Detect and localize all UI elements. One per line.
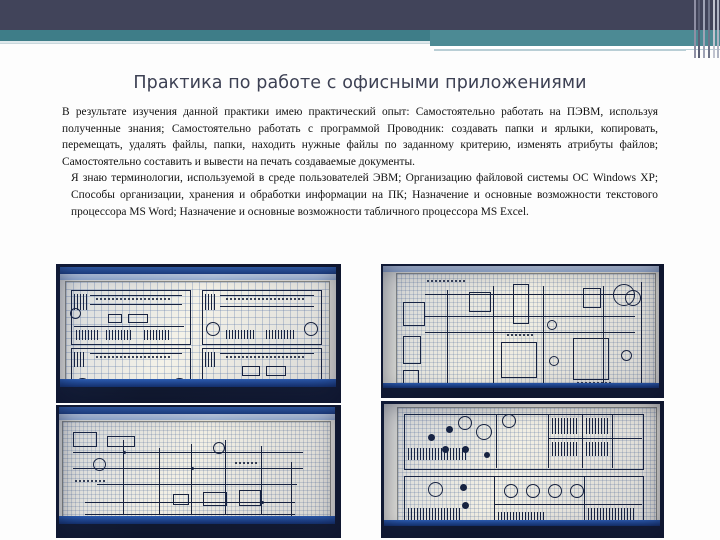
- schem-tr-block-6: [501, 342, 537, 378]
- dim-line-1: [90, 295, 182, 296]
- tr-branch-1: [447, 290, 448, 386]
- plan-ring-8: [570, 484, 584, 498]
- schem-tr-ring-4: [549, 356, 559, 366]
- stripe-4: [708, 0, 710, 58]
- junction-2: [191, 467, 194, 470]
- plan-node-1: [428, 434, 435, 441]
- component-box-2: [203, 492, 227, 506]
- branch-3: [191, 444, 192, 514]
- floorplan-sheet-br: [398, 408, 656, 522]
- plan-wall-4: [612, 414, 613, 468]
- plan-hatch-1: [408, 448, 468, 460]
- ring-3: [304, 322, 318, 336]
- plan-hatch-5: [586, 442, 608, 456]
- tr-label-1: [427, 280, 467, 282]
- window-toolbar-tl: [60, 274, 336, 280]
- window-titlebar-bl: [59, 407, 335, 414]
- plan-node-5: [484, 452, 490, 458]
- hatch-2: [76, 330, 98, 340]
- ring-2: [206, 322, 220, 336]
- plan-ring-2: [476, 424, 492, 440]
- dim-line-2: [90, 304, 182, 305]
- schem-tr-block-4: [469, 292, 491, 312]
- hatch-6: [226, 330, 254, 339]
- schem-tr-block-1: [403, 302, 425, 326]
- hatch-4: [144, 330, 170, 340]
- plan-wall-1: [496, 414, 497, 468]
- schem-block-1: [73, 432, 97, 447]
- drawing-sheet-tr: [397, 274, 655, 384]
- plan-hatch-4: [552, 442, 578, 456]
- monitor-screen-tl: [60, 267, 336, 387]
- sheet-grid-bl: [63, 422, 330, 519]
- component-box-3: [239, 490, 261, 506]
- detail-box-1: [108, 314, 122, 323]
- dim-line-7: [220, 353, 314, 354]
- ring-1: [70, 308, 81, 319]
- hatch-7: [266, 330, 294, 339]
- plan-wall-8: [494, 504, 642, 505]
- header-accent-line-right-thin: [434, 49, 686, 51]
- schem-tr-ring-5: [621, 350, 632, 361]
- detail-box-2: [128, 314, 148, 323]
- hatch-5: [205, 294, 217, 310]
- component-box-1: [173, 494, 189, 505]
- slide-header-banner: [0, 0, 720, 60]
- plan-wall-6: [494, 476, 495, 526]
- drawing-sheet-tl: [66, 282, 329, 381]
- photo-grid: [56, 264, 664, 538]
- stripe-1: [694, 0, 696, 58]
- label-2: [226, 298, 304, 300]
- component-ring-1: [93, 458, 106, 471]
- junction-1: [123, 451, 126, 454]
- tr-sheet-border: [641, 282, 642, 388]
- windows-taskbar-tl: [60, 379, 336, 387]
- plan-ring-5: [504, 484, 518, 498]
- title-block-edge: [291, 462, 292, 516]
- label-4: [226, 356, 304, 358]
- plan-node-2: [446, 426, 453, 433]
- detail-box-3: [242, 366, 260, 376]
- photo-bottom-left: [56, 405, 341, 538]
- plan-ring-3: [502, 414, 516, 428]
- body-paragraph-2: Я знаю терминологии, используемой в сред…: [62, 170, 658, 220]
- plan-ring-7: [548, 484, 562, 498]
- bus-line-3: [97, 484, 297, 485]
- header-hairline-left: [0, 43, 430, 44]
- monitor-screen-bl: [59, 407, 335, 524]
- stripe-5: [713, 0, 715, 58]
- drawing-sheet-bl: [63, 422, 330, 519]
- plan-wall-2: [548, 414, 549, 468]
- schem-label-1: [75, 480, 105, 482]
- stripe-3: [703, 0, 705, 58]
- windows-taskbar-br: [384, 520, 660, 526]
- plan-wall-3: [582, 414, 583, 468]
- stripe-2: [698, 0, 700, 58]
- schem-tr-ring-2: [625, 290, 641, 306]
- stripe-6: [717, 0, 719, 58]
- photo-top-right: [381, 264, 664, 398]
- bus-line-1: [73, 452, 303, 453]
- windows-taskbar-tr: [383, 383, 659, 388]
- bus-line-5: [85, 514, 295, 515]
- monitor-screen-br: [384, 404, 660, 526]
- label-3: [96, 356, 172, 358]
- hatch-3: [106, 330, 132, 340]
- dim-line-4: [220, 295, 314, 296]
- plan-outline-upper: [404, 414, 644, 470]
- tr-branch-4: [603, 286, 604, 386]
- plan-ring-4: [428, 482, 443, 497]
- hatch-8: [74, 352, 86, 367]
- plan-ring-1: [458, 416, 472, 430]
- junction-3: [261, 501, 264, 504]
- plan-hatch-2: [552, 418, 578, 434]
- photo-top-left: [56, 264, 341, 403]
- bus-line-2: [73, 468, 303, 469]
- schem-block-2: [107, 436, 135, 447]
- component-ring-2: [213, 442, 225, 454]
- tr-branch-3: [543, 286, 544, 386]
- schem-tr-block-2: [403, 336, 421, 364]
- tr-label-2: [507, 334, 535, 336]
- header-accent-line-left: [0, 41, 430, 43]
- plan-ring-6: [526, 484, 540, 498]
- label-1: [96, 298, 170, 300]
- plan-node-7: [462, 502, 469, 509]
- plan-hatch-3: [586, 418, 608, 434]
- dim-line-3: [74, 326, 184, 327]
- slide-canvas: Практика по работе с офисными приложения…: [0, 0, 720, 540]
- slide-body-text: В результате изучения данной практики им…: [62, 104, 658, 220]
- header-teal-band-right: [430, 30, 720, 46]
- header-navy-band: [0, 0, 720, 30]
- schem-tr-block-5: [513, 284, 529, 324]
- schem-label-2: [235, 462, 259, 464]
- plan-wall-7: [584, 476, 585, 526]
- windows-taskbar-bl: [59, 516, 335, 524]
- window-titlebar-tl: [60, 267, 336, 274]
- monitor-screen-tr: [383, 266, 659, 388]
- window-toolbar-bl: [59, 414, 335, 420]
- dim-line-6: [90, 353, 182, 354]
- photo-bottom-right: [381, 401, 664, 538]
- plan-node-6: [460, 484, 467, 491]
- branch-2: [159, 448, 160, 514]
- body-paragraph-1: В результате изучения данной практики им…: [62, 104, 658, 170]
- page-title: Практика по работе с офисными приложения…: [0, 73, 720, 93]
- hatch-11: [205, 352, 217, 367]
- tr-branch-2: [493, 286, 494, 386]
- detail-box-4: [266, 366, 286, 376]
- schem-tr-block-8: [583, 288, 601, 308]
- schem-tr-ring-3: [547, 320, 557, 330]
- header-vertical-stripes: [692, 0, 720, 58]
- window-toolbar-tr: [383, 266, 659, 272]
- plan-wall-5: [548, 438, 642, 439]
- dim-line-5: [220, 306, 314, 307]
